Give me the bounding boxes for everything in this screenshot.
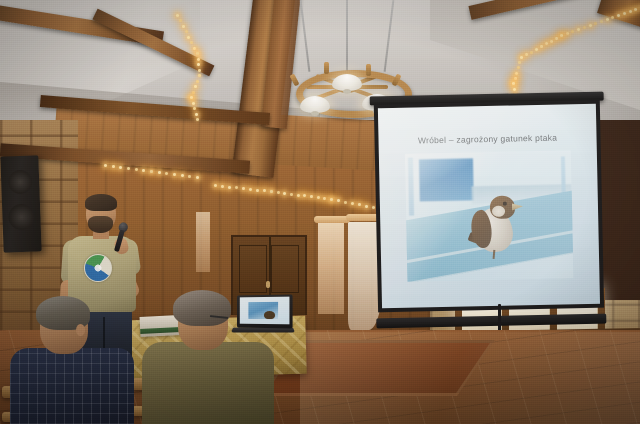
lace-curtain-far-left (196, 212, 210, 272)
string-light-bulb (515, 72, 518, 75)
string-light-bulb (351, 202, 354, 205)
string-light-bulb (555, 37, 558, 40)
string-light-bulb (540, 45, 543, 48)
circular-club-emblem-icon (84, 254, 112, 282)
string-light-bulb (270, 190, 273, 193)
audience-2-hair (173, 290, 231, 326)
string-light-bulb (197, 63, 200, 66)
wheel-handle-2 (324, 62, 329, 74)
screen-surface: Wróbel – zagrożony gatunek ptaka (378, 104, 600, 309)
string-light-bulb (513, 88, 516, 91)
string-light-bulb (530, 51, 533, 54)
string-light-bulb (365, 205, 368, 208)
sparrow-eye (503, 202, 507, 206)
wheel-handle-1 (289, 74, 299, 87)
slide-title: Wróbel – zagrożony gatunek ptaka (378, 132, 596, 147)
string-light-bulb (193, 107, 196, 110)
string-light-bulb (185, 30, 188, 33)
string-light-bulb (196, 118, 199, 121)
string-light-bulb (214, 184, 217, 187)
slide-photo-sparrow (405, 150, 574, 281)
lace-curtain-left (318, 222, 344, 314)
chandelier-lamp-left (300, 96, 330, 113)
string-light-bulb (190, 96, 193, 99)
photo-stripe-left (408, 158, 414, 216)
presentation-room-photo: Wróbel – zagrożony gatunek ptaka (0, 0, 640, 424)
string-light-bulb (344, 201, 347, 204)
speaker-cone-upper (8, 170, 33, 195)
string-light-bulb (221, 185, 224, 188)
string-light-bulb (520, 56, 523, 59)
string-light-bulb (176, 14, 179, 17)
string-light-bulb (629, 10, 632, 13)
string-light-bulb (583, 26, 586, 29)
string-light-bulb (112, 165, 115, 168)
string-light-bulb (256, 189, 259, 192)
door-panel-right (271, 245, 299, 293)
string-light-bulb (196, 176, 199, 179)
string-light-bulb (512, 82, 515, 85)
string-light-bulb (535, 48, 538, 51)
floor-reflection (300, 332, 640, 424)
string-light-bulb (330, 198, 333, 201)
audience-member-plaid-shirt (10, 296, 130, 424)
string-light-bulb (192, 91, 195, 94)
string-light-bulb (249, 188, 252, 191)
string-light-bulb (127, 167, 130, 170)
audience-1-ear (76, 324, 85, 336)
presenter-beard (88, 216, 113, 233)
door-knob[interactable] (266, 281, 270, 288)
string-light-bulb (297, 194, 300, 197)
curtain-valance-left (314, 216, 350, 223)
string-light-bulb (514, 77, 517, 80)
string-light-bulb (600, 20, 603, 23)
string-light-bulb (560, 34, 563, 37)
string-light-bulb (317, 196, 320, 199)
presenter-hair (85, 194, 117, 211)
chandelier-lamp-center (332, 74, 362, 91)
string-light-bulb (192, 102, 195, 105)
pa-speaker (0, 155, 41, 252)
string-light-bulb (193, 47, 196, 50)
string-light-bulb (198, 69, 201, 72)
speaker-cone-lower (8, 204, 35, 231)
string-light-bulb (228, 186, 231, 189)
string-light-bulb (181, 174, 184, 177)
string-light-bulb (623, 12, 626, 15)
string-light-bulb (277, 191, 280, 194)
audience-member-olive-jacket (148, 292, 268, 424)
string-light-bulb (104, 164, 107, 167)
audience-1-shirt (10, 348, 134, 424)
projection-screen: Wróbel – zagrożony gatunek ptaka (374, 98, 605, 321)
string-light-bulb (589, 24, 592, 27)
photo-blue-window (419, 158, 474, 201)
string-light-bulb (196, 52, 199, 55)
string-light-bulb (242, 187, 245, 190)
sparrow-leg (493, 250, 496, 259)
string-light-bulb (196, 80, 199, 83)
string-light-bulb (150, 170, 153, 173)
string-light-bulb (290, 193, 293, 196)
string-light-bulb (550, 40, 553, 43)
string-light-bulb (158, 171, 161, 174)
string-light-bulb (182, 25, 185, 28)
string-light-bulb (606, 18, 609, 21)
audience-2-jacket (142, 342, 274, 424)
sparrow-beak (512, 203, 523, 210)
wheel-handle-3 (366, 64, 371, 76)
chandelier-chain-center (346, 0, 348, 72)
sparrow (468, 189, 527, 260)
string-light-bulb (566, 32, 569, 35)
string-light-bulb (197, 58, 200, 61)
string-light-bulb (198, 74, 201, 77)
door-panel-left (239, 245, 267, 293)
string-light-bulb (195, 113, 198, 116)
string-light-bulb (173, 173, 176, 176)
string-light-bulb (194, 85, 197, 88)
string-light-bulb (135, 168, 138, 171)
string-light-bulb (372, 206, 375, 209)
